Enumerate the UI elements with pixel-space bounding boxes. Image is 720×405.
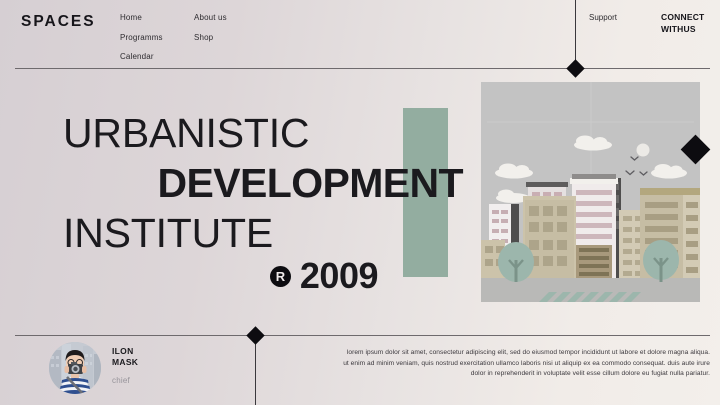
nav-item-programms[interactable]: Programms [120, 33, 163, 42]
city-illustration [481, 82, 700, 302]
headline-year-row: R 2009 [63, 256, 463, 296]
connect-line-1: CONNECT [661, 12, 704, 24]
person-info: ILON MASK chief [112, 346, 138, 385]
headline-line-urbanistic: URBANISTIC [63, 108, 463, 158]
person-name-line-2: MASK [112, 357, 138, 368]
headline-line-institute: INSTITUTE [63, 208, 463, 258]
avatar [49, 342, 101, 394]
nav-item-about-us[interactable]: About us [194, 13, 227, 22]
footer-paragraph: lorem ipsum dolor sit amet, consectetur … [340, 348, 710, 380]
nav-column-secondary: About us Shop [194, 13, 227, 42]
person-role: chief [112, 376, 138, 385]
nav-item-support[interactable]: Support [589, 13, 617, 22]
nav-column-primary: Home Programms Calendar [120, 13, 163, 61]
slide-canvas: SPACES Home Programms Calendar About us … [0, 0, 720, 405]
connect-line-2: WITHUS [661, 24, 704, 36]
diamond-marker-footer [246, 326, 264, 344]
footer-vertical-rule [255, 336, 256, 405]
page-title: URBANISTIC DEVELOPMENT INSTITUTE R 2009 [63, 108, 463, 296]
nav-item-home[interactable]: Home [120, 13, 163, 22]
founding-year: 2009 [300, 256, 378, 296]
person-name-line-1: ILON [112, 346, 138, 357]
connect-with-us-link[interactable]: CONNECT WITHUS [661, 12, 704, 35]
registered-trademark-icon: R [270, 266, 291, 287]
headline-line-development: DEVELOPMENT [63, 158, 463, 208]
header-divider-rule [15, 68, 710, 69]
nav-item-calendar[interactable]: Calendar [120, 52, 163, 61]
diamond-marker-header [566, 59, 584, 77]
brand-logo[interactable]: SPACES [21, 13, 96, 31]
footer-divider-rule [15, 335, 710, 336]
nav-item-shop[interactable]: Shop [194, 33, 227, 42]
